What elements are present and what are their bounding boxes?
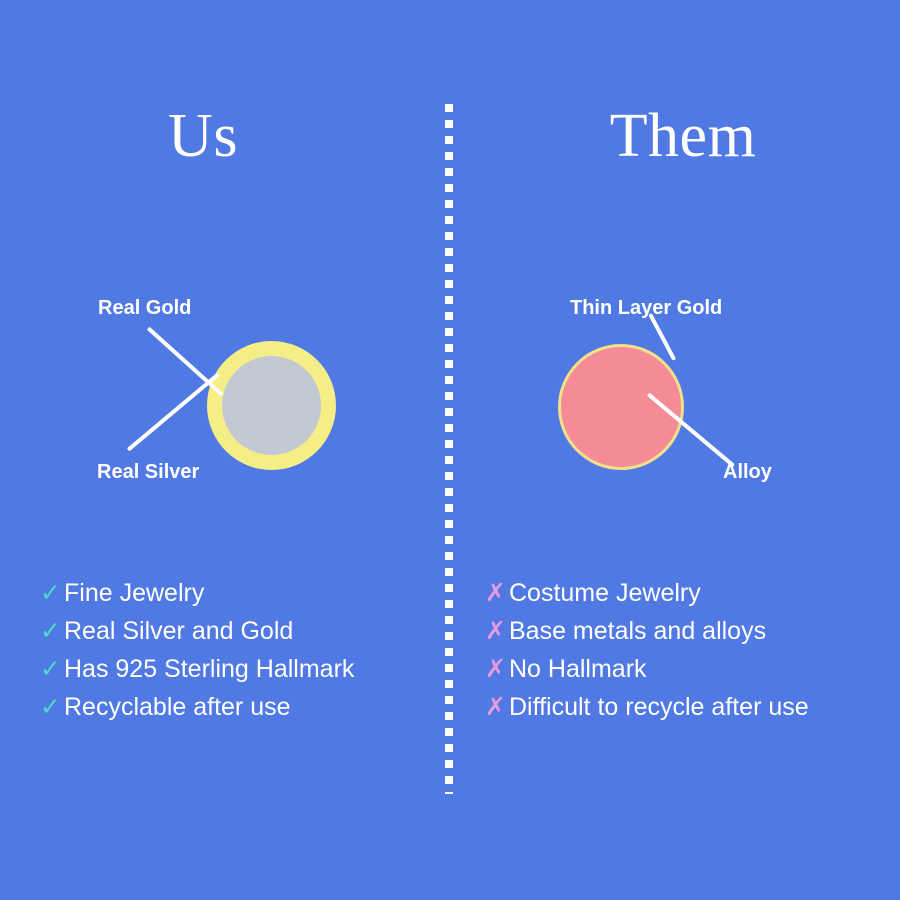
list-item-label: Real Silver and Gold [64,612,293,650]
list-item: ✓ Has 925 Sterling Hallmark [40,650,490,688]
cross-icon: ✗ [485,612,509,650]
list-item: ✗ Costume Jewelry [485,574,900,612]
diagram-us: Real Gold Real Silver [0,270,450,510]
list-item-label: Difficult to recycle after use [509,688,809,726]
comparison-infographic: Us Real Gold Real Silver ✓ Fine Jewelry … [0,0,900,900]
leader-line-real-silver [127,373,220,452]
list-item: ✓ Real Silver and Gold [40,612,490,650]
list-item-label: Has 925 Sterling Hallmark [64,650,354,688]
list-item-label: Costume Jewelry [509,574,701,612]
callout-label-real-silver: Real Silver [97,462,199,482]
list-item: ✗ No Hallmark [485,650,900,688]
column-us: Us Real Gold Real Silver ✓ Fine Jewelry … [0,0,450,900]
callout-label-real-gold: Real Gold [98,298,191,318]
check-icon: ✓ [40,650,64,688]
leader-line-real-gold [147,327,224,397]
cross-icon: ✗ [485,688,509,726]
list-item: ✓ Recyclable after use [40,688,490,726]
list-item-label: No Hallmark [509,650,647,688]
feature-list-them: ✗ Costume Jewelry ✗ Base metals and allo… [450,574,900,726]
list-item-label: Base metals and alloys [509,612,766,650]
silver-core-shape [222,356,321,455]
column-them: Them Thin Layer Gold Alloy ✗ Costume Jew… [450,0,900,900]
list-item-label: Recyclable after use [64,688,291,726]
list-item: ✗ Difficult to recycle after use [485,688,900,726]
column-title-them: Them [458,104,900,169]
list-item-label: Fine Jewelry [64,574,204,612]
check-icon: ✓ [40,612,64,650]
check-icon: ✓ [40,688,64,726]
cross-icon: ✗ [485,574,509,612]
callout-label-thin-layer-gold: Thin Layer Gold [570,298,722,318]
feature-list-us: ✓ Fine Jewelry ✓ Real Silver and Gold ✓ … [0,574,490,726]
callout-label-alloy: Alloy [723,462,772,482]
diagram-them: Thin Layer Gold Alloy [450,270,900,510]
column-title-us: Us [0,104,428,169]
list-item: ✗ Base metals and alloys [485,612,900,650]
list-item: ✓ Fine Jewelry [40,574,490,612]
check-icon: ✓ [40,574,64,612]
cross-icon: ✗ [485,650,509,688]
